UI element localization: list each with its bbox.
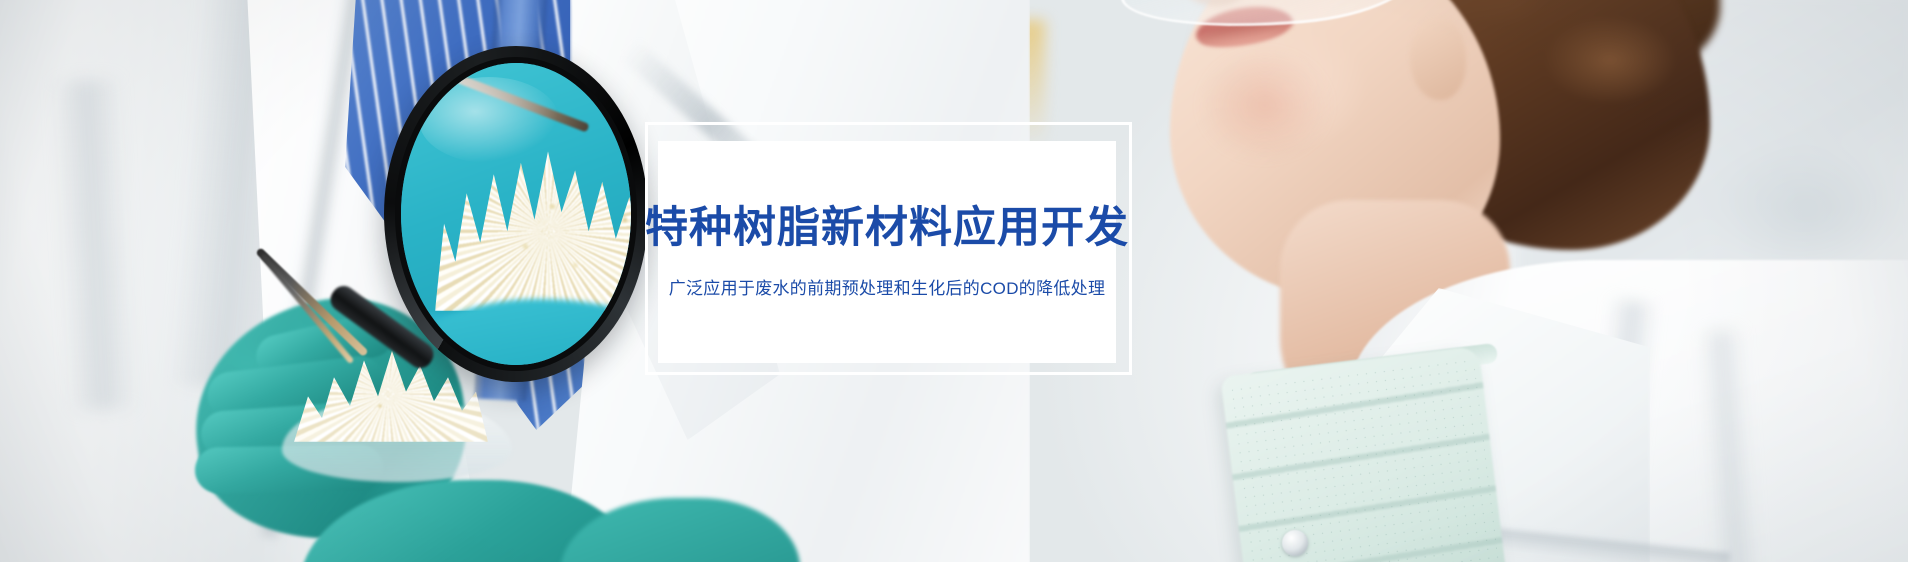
magnifying-glass-icon (384, 46, 648, 382)
magnifier-lens (401, 63, 631, 365)
cheek-shading (1200, 50, 1330, 160)
banner-title: 特种树脂新材料应用开发 (645, 205, 1129, 252)
ear (1410, 18, 1466, 100)
right-scientist (1050, 0, 1908, 562)
banner-subtitle: 广泛应用于废水的前期预处理和生化后的COD的降低处理 (669, 274, 1106, 299)
text-card-panel: 特种树脂新材料应用开发 广泛应用于废水的前期预处理和生化后的COD的降低处理 (658, 141, 1116, 363)
lens-highlight (419, 77, 559, 163)
labcoat-snap-button (1282, 530, 1308, 556)
hero-banner: 特种树脂新材料应用开发 广泛应用于废水的前期预处理和生化后的COD的降低处理 (0, 0, 1908, 562)
surgical-mask-texture (1227, 356, 1512, 562)
